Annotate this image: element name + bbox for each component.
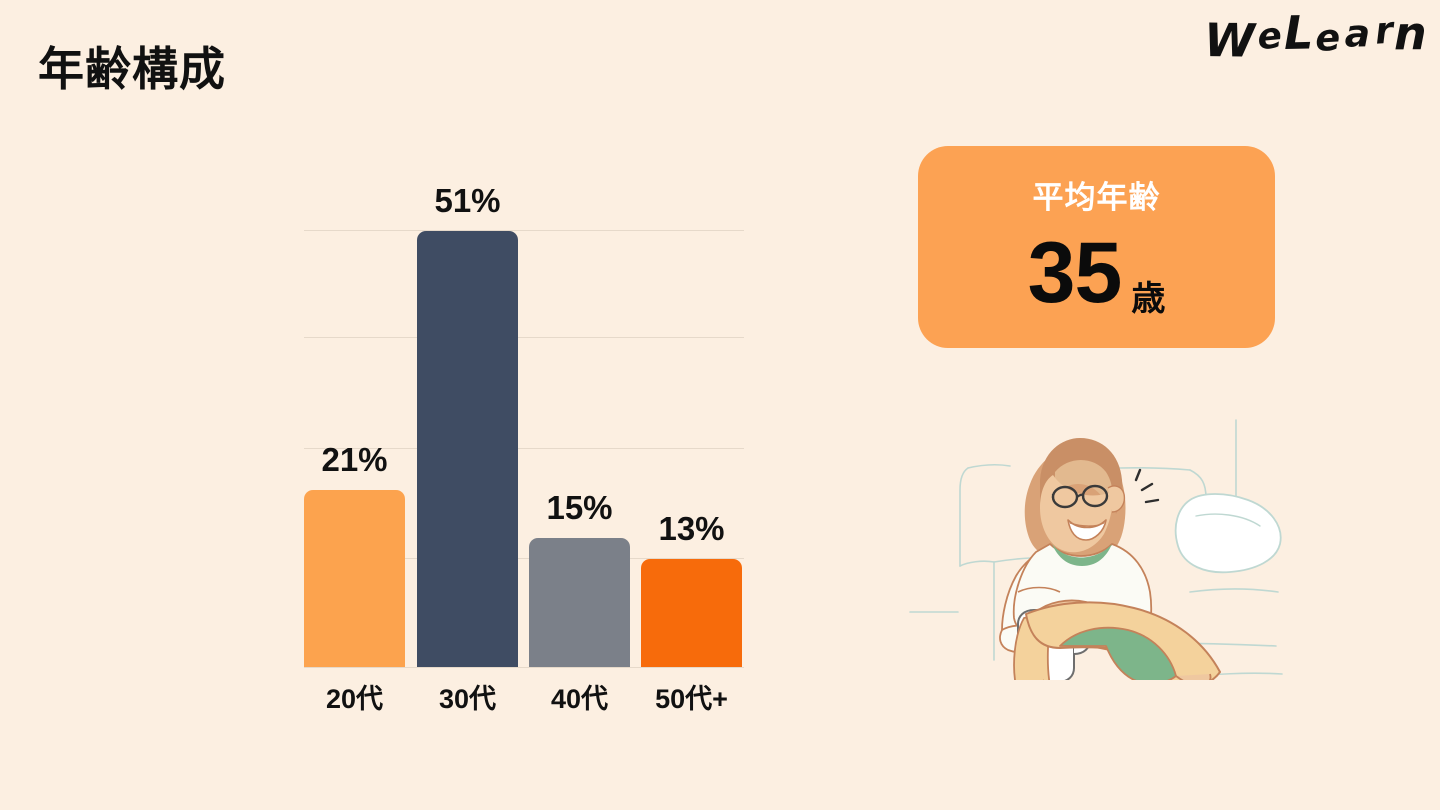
logo-letter-e: e [1255,14,1282,58]
average-age-card: 平均年齢 35 歳 [918,146,1275,348]
bar-value-30s: 51% [417,182,518,220]
category-label-50s-plus: 50代+ [641,677,742,716]
bar-value-40s: 15% [529,489,630,527]
chart-bars: 21% 51% 15% 13% [304,225,744,667]
logo-letter-w: W [1204,13,1254,68]
chart-category-labels: 20代 30代 40代 50代+ [304,677,744,717]
slide-root: WeLearn 年齢構成 21% 51% 15% 1 [0,0,1440,810]
chart-baseline [304,667,744,668]
bar-20s[interactable] [304,490,405,667]
logo-letter-n: n [1394,6,1426,60]
category-label-40s: 40代 [529,677,630,716]
bar-value-50s-plus: 13% [641,510,742,548]
bar-slot-40s: 15% [529,225,630,667]
bar-30s[interactable] [417,231,518,667]
average-age-unit: 歳 [1131,271,1165,320]
page-title: 年齢構成 [38,44,226,95]
bar-slot-20s: 21% [304,225,405,667]
bar-slot-30s: 51% [417,225,518,667]
logo-letter-e2: e [1314,15,1341,59]
age-composition-bar-chart: 21% 51% 15% 13% 20代 30代 40代 50代+ [304,225,744,670]
bar-40s[interactable] [529,538,630,667]
logo-letter-a: a [1345,11,1370,55]
average-age-card-title: 平均年齢 [918,172,1275,217]
logo-letter-r: r [1373,8,1393,52]
average-age-value-row: 35 歳 [918,230,1275,316]
average-age-value: 35 [1028,230,1122,316]
bar-slot-50s-plus: 13% [641,225,742,667]
bar-50s-plus[interactable] [641,559,742,667]
category-label-30s: 30代 [417,677,518,716]
welearn-logo: WeLearn [1203,4,1427,66]
logo-letter-l: L [1283,5,1312,60]
bar-value-20s: 21% [304,441,405,479]
category-label-20s: 20代 [304,677,405,716]
woman-on-couch-with-laptop-illustration [890,380,1290,680]
